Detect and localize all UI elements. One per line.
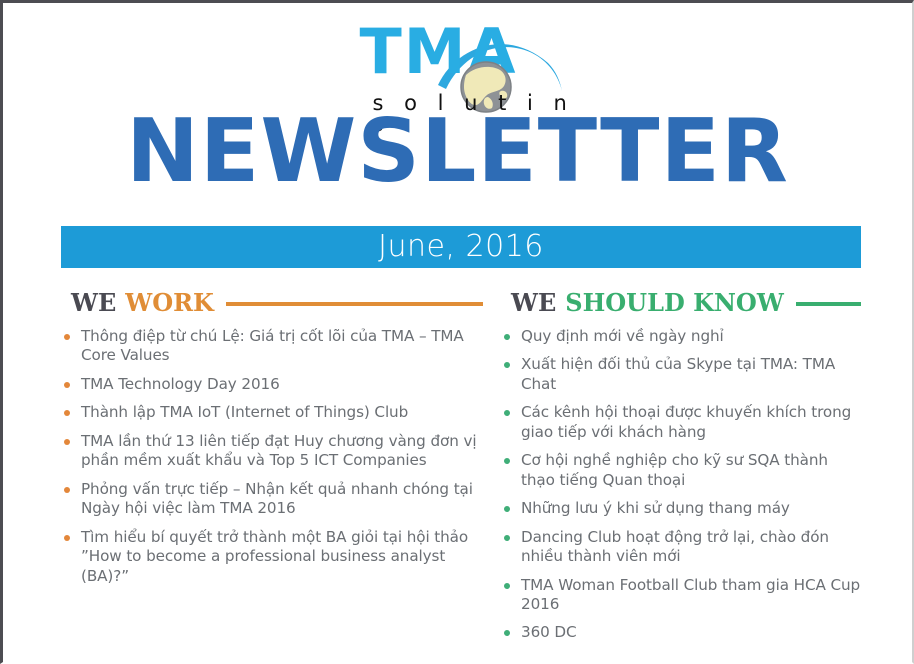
- heading-accent: SHOULD KNOW: [565, 288, 784, 317]
- content-columns: WE WORK Thông điệp từ chú Lệ: Giá trị cố…: [61, 288, 861, 652]
- list-item[interactable]: TMA Woman Football Club tham gia HCA Cup…: [501, 576, 861, 615]
- heading-prefix: WE: [71, 288, 116, 317]
- list-item[interactable]: Xuất hiện đối thủ của Skype tại TMA: TMA…: [501, 355, 861, 394]
- newsletter-page: TMA s o l u t i n s NEWSLETTER June, 201…: [0, 0, 914, 664]
- issue-date-bar: June, 2016: [61, 226, 861, 268]
- list-item[interactable]: Những lưu ý khi sử dụng thang máy: [501, 499, 861, 518]
- list-item[interactable]: TMA Technology Day 2016: [61, 375, 483, 394]
- list-item[interactable]: Thông điệp từ chú Lệ: Giá trị cốt lõi củ…: [61, 327, 483, 366]
- heading-rule: [226, 302, 483, 306]
- issue-date-text: June, 2016: [378, 232, 544, 262]
- list-item[interactable]: Quy định mới về ngày nghỉ: [501, 327, 861, 346]
- section-heading-we-should-know: WE SHOULD KNOW: [511, 288, 861, 317]
- page-title: NEWSLETTER: [3, 108, 912, 195]
- heading-rule: [796, 302, 861, 306]
- list-item[interactable]: Dancing Club hoạt động trở lại, chào đón…: [501, 528, 861, 567]
- list-item[interactable]: Phỏng vấn trực tiếp – Nhận kết quả nhanh…: [61, 480, 483, 519]
- we-work-list: Thông điệp từ chú Lệ: Giá trị cốt lõi củ…: [61, 327, 483, 586]
- heading-prefix: WE: [511, 288, 556, 317]
- section-we-should-know: WE SHOULD KNOW Quy định mới về ngày nghỉ…: [501, 288, 861, 652]
- list-item[interactable]: TMA lần thứ 13 liên tiếp đạt Huy chương …: [61, 432, 483, 471]
- section-we-work: WE WORK Thông điệp từ chú Lệ: Giá trị cố…: [61, 288, 501, 652]
- list-item[interactable]: Các kênh hội thoại được khuyến khích tro…: [501, 403, 861, 442]
- heading-accent: WORK: [125, 288, 214, 317]
- list-item[interactable]: 360 DC: [501, 623, 861, 642]
- section-heading-we-work: WE WORK: [71, 288, 483, 317]
- list-item[interactable]: Cơ hội nghề nghiệp cho kỹ sư SQA thành t…: [501, 451, 861, 490]
- list-item[interactable]: Tìm hiểu bí quyết trở thành một BA giỏi …: [61, 528, 483, 586]
- we-should-know-list: Quy định mới về ngày nghỉ Xuất hiện đối …: [501, 327, 861, 643]
- list-item[interactable]: Thành lập TMA IoT (Internet of Things) C…: [61, 403, 483, 422]
